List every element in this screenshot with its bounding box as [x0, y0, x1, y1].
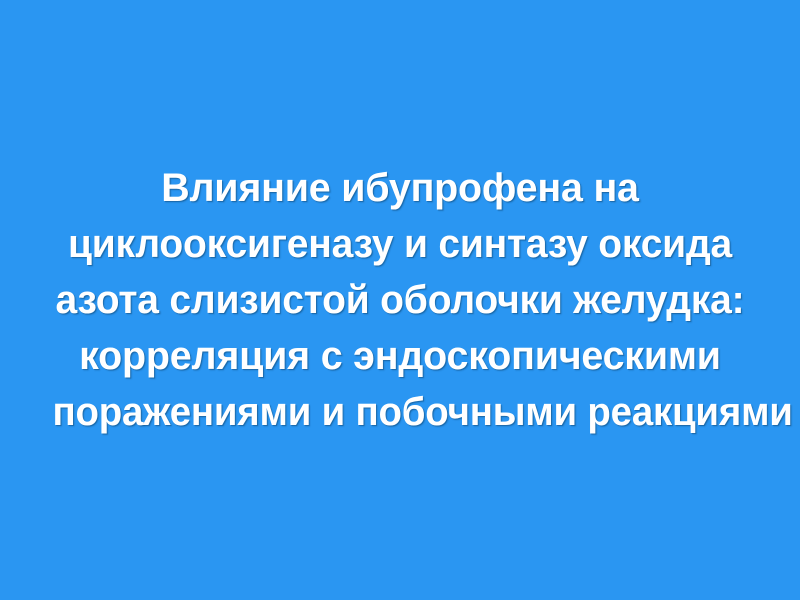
- title-line-1: Влияние ибупрофена на: [43, 160, 756, 216]
- title-line-3: азота слизистой оболочки желудка:: [47, 272, 753, 328]
- title-line-5: поражениями и побочными реакциями: [52, 384, 747, 440]
- title-line-2: циклооксигеназу и синтазу оксида: [47, 216, 753, 272]
- title-line-4: корреляция с эндоскопическими: [43, 328, 756, 384]
- title-card: Влияние ибупрофена на циклооксигеназу и …: [0, 0, 800, 600]
- page-title: Влияние ибупрофена на циклооксигеназу и …: [20, 160, 780, 440]
